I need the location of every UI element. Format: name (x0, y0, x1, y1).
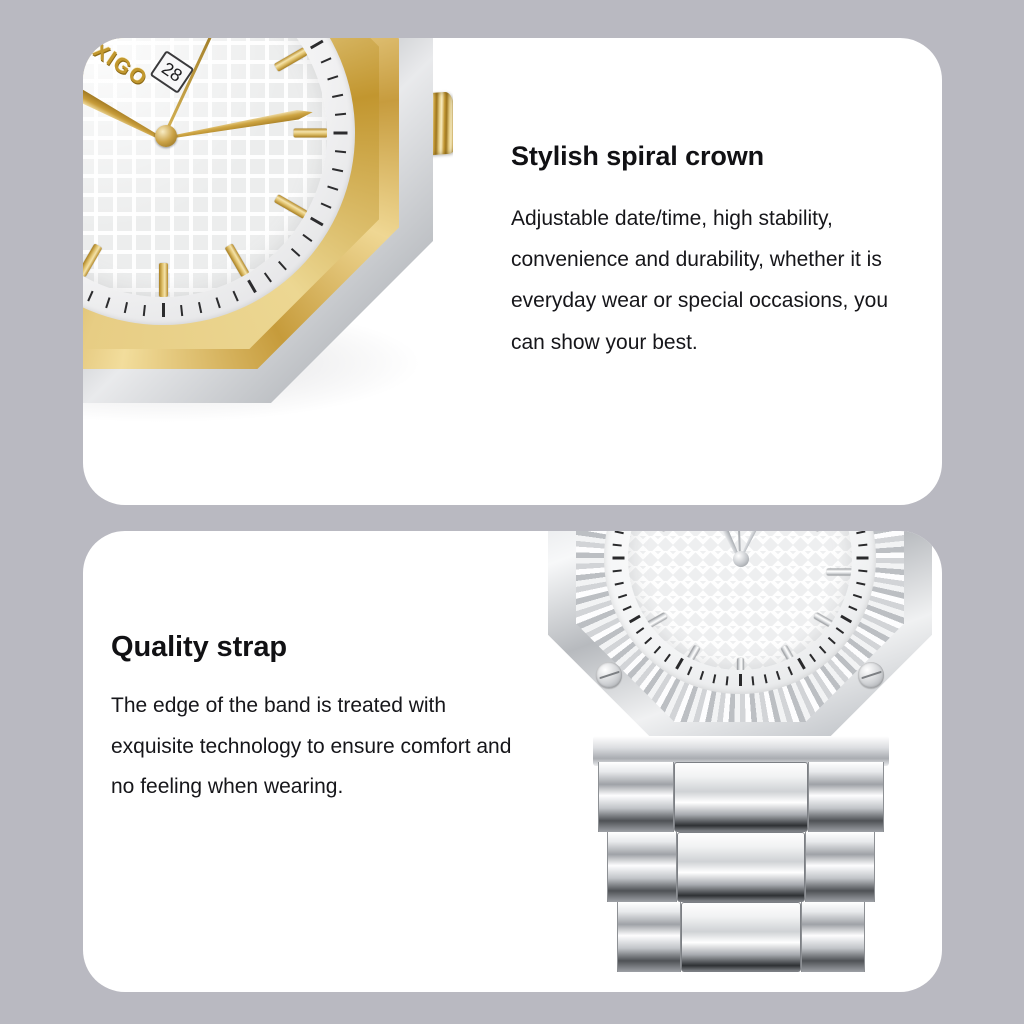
minute-tick (764, 674, 768, 683)
minute-tick (856, 531, 865, 534)
hour-index (293, 129, 327, 138)
gold-watch-illustration: VI CHAXIGO SHION-6609-2 28 (83, 38, 453, 515)
minute-tick (848, 605, 857, 610)
minute-tick (124, 302, 128, 313)
bracelet-link-row (617, 902, 865, 972)
product-feature-page: VI CHAXIGO SHION-6609-2 28 (0, 0, 1024, 1024)
minute-tick (819, 646, 827, 654)
minute-tick (840, 615, 852, 624)
minute-tick (628, 615, 640, 624)
minute-tick (699, 671, 704, 680)
hour-index-2 (641, 612, 667, 631)
screw-lug-left (596, 662, 622, 688)
minute-tick (751, 676, 754, 685)
minute-tick (853, 594, 862, 599)
minute-tick (615, 582, 624, 586)
minute-tick (198, 302, 202, 313)
bracelet-link-row (607, 832, 875, 902)
minute-tick (615, 531, 624, 534)
watch-photo-gold: VI CHAXIGO SHION-6609-2 28 (83, 38, 453, 515)
minute-tick (856, 582, 865, 586)
hour-index-2 (826, 569, 852, 576)
minute-tick (180, 305, 183, 316)
hour-index-2 (813, 612, 839, 631)
minute-tick (105, 297, 110, 308)
bracelet-side-link (617, 902, 681, 972)
body-spiral-crown: Adjustable date/time, high stability, co… (511, 198, 921, 363)
bracelet-side-link (598, 762, 674, 832)
minute-tick (333, 132, 347, 135)
bracelet-center-link (674, 762, 808, 832)
minute-tick (216, 297, 221, 308)
minute-tick (618, 594, 627, 599)
hour-index-2 (641, 531, 667, 532)
minute-tick (327, 75, 338, 80)
minute-tick (858, 544, 867, 547)
minute-tick (335, 113, 346, 116)
steel-bracelet (566, 736, 916, 992)
hour-index-2 (737, 658, 744, 670)
text-block-quality-strap: Quality strap The edge of the band is tr… (111, 632, 516, 808)
minute-tick (776, 671, 781, 680)
bracelet-side-link (805, 832, 875, 902)
minute-tick (858, 569, 867, 572)
bracelet-center-link (677, 832, 805, 902)
minute-tick (332, 94, 343, 98)
minute-tick (613, 569, 622, 572)
watch-photo-steel: FASHION-6609-2 (520, 531, 942, 992)
minute-tick (612, 557, 624, 560)
body-quality-strap: The edge of the band is treated with exq… (111, 686, 516, 808)
minute-tick (809, 654, 816, 662)
bracelet-center-link (681, 902, 801, 972)
minute-tick (162, 303, 165, 317)
minute-tick (664, 654, 671, 662)
hand-cap-2 (733, 551, 749, 567)
minute-tick (712, 674, 716, 683)
bracelet-side-link (607, 832, 677, 902)
minute-tick (327, 186, 338, 191)
text-block-spiral-crown: Stylish spiral crown Adjustable date/tim… (511, 142, 921, 363)
minute-tick (332, 168, 343, 172)
bracelet-side-link (801, 902, 865, 972)
steel-watch-illustration: FASHION-6609-2 (530, 531, 942, 992)
minute-tick (335, 150, 346, 153)
minute-tick (856, 557, 868, 560)
hand-cap (155, 125, 177, 147)
minute-tick (613, 544, 622, 547)
minute-tick (623, 605, 632, 610)
minute-tick (143, 305, 146, 316)
minute-tick (644, 637, 652, 645)
minute-tick (654, 646, 662, 654)
minute-tick (828, 637, 836, 645)
watch-dial-gold: VI CHAXIGO SHION-6609-2 28 (83, 38, 327, 297)
hour-index (159, 263, 168, 297)
bracelet-link-row (597, 762, 885, 832)
heading-spiral-crown: Stylish spiral crown (511, 142, 921, 172)
bracelet-side-link (808, 762, 884, 832)
minute-tick (739, 674, 742, 686)
heading-quality-strap: Quality strap (111, 632, 516, 664)
minute-tick (726, 676, 729, 685)
screw-lug-right (858, 662, 884, 688)
hour-index-2 (813, 531, 839, 532)
